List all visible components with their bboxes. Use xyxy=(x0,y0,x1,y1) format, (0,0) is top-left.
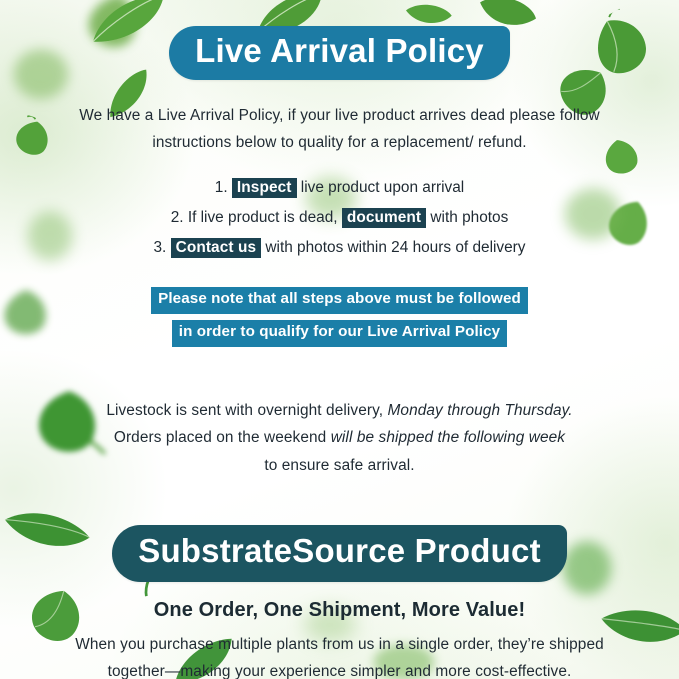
step-text-after: with photos within 24 hours of delivery xyxy=(261,239,525,256)
shipping-line-1: Livestock is sent with overnight deliver… xyxy=(80,397,600,424)
shipping-info-block: Livestock is sent with overnight deliver… xyxy=(80,397,600,479)
list-item: 1. Inspect live product upon arrival xyxy=(215,176,464,201)
shipping-line-3: to ensure safe arrival. xyxy=(80,452,600,479)
step-text-after: with photos xyxy=(426,209,508,226)
list-item: 2. If live product is dead, document wit… xyxy=(171,206,509,231)
step-highlight-contact-us: Contact us xyxy=(171,238,262,258)
list-item: 3. Contact us with photos within 24 hour… xyxy=(153,236,525,261)
policy-page-content: Live Arrival Policy We have a Live Arriv… xyxy=(0,0,679,679)
step-number: 2. xyxy=(171,209,184,226)
shipping-line-2-italic: will be shipped xyxy=(331,429,433,446)
intro-line-1: We have a Live Arrival Policy, if your l… xyxy=(70,102,610,129)
substrate-source-product-banner: SubstrateSource Product xyxy=(112,525,567,582)
note-line-1: Please note that all steps above must be… xyxy=(151,287,528,314)
live-arrival-policy-banner: Live Arrival Policy xyxy=(169,26,510,80)
step-text-after: live product upon arrival xyxy=(297,179,465,196)
shipping-line-2: Orders placed on the weekend will be shi… xyxy=(80,424,600,451)
shipping-line-1-italic: Monday through Thursday. xyxy=(387,402,572,419)
step-number: 1. xyxy=(215,179,228,196)
intro-line-2: instructions below to quality for a repl… xyxy=(70,129,610,156)
value-line-1: When you purchase multiple plants from u… xyxy=(75,631,605,658)
shipping-line-2-plain-a: Orders placed on the weekend xyxy=(114,429,331,446)
step-text-before: If live product is dead, xyxy=(188,209,342,226)
value-headline: One Order, One Shipment, More Value! xyxy=(154,599,525,622)
policy-steps-list: 1. Inspect live product upon arrival 2. … xyxy=(60,176,620,261)
note-line-2: in order to qualify for our Live Arrival… xyxy=(172,320,507,347)
policy-note-block: Please note that all steps above must be… xyxy=(151,287,528,347)
value-paragraph: When you purchase multiple plants from u… xyxy=(75,631,605,679)
value-line-2: together—making your experience simpler … xyxy=(75,658,605,679)
step-highlight-inspect: Inspect xyxy=(232,178,297,198)
shipping-line-1-plain: Livestock is sent with overnight deliver… xyxy=(106,402,387,419)
substrate-source-block: SubstrateSource Product One Order, One S… xyxy=(75,525,605,679)
shipping-paragraph: Livestock is sent with overnight deliver… xyxy=(80,397,600,479)
shipping-line-2-plain-b: the following week xyxy=(433,429,565,446)
step-highlight-document: document xyxy=(342,208,426,228)
intro-paragraph: We have a Live Arrival Policy, if your l… xyxy=(70,102,610,157)
step-number: 3. xyxy=(153,239,166,256)
